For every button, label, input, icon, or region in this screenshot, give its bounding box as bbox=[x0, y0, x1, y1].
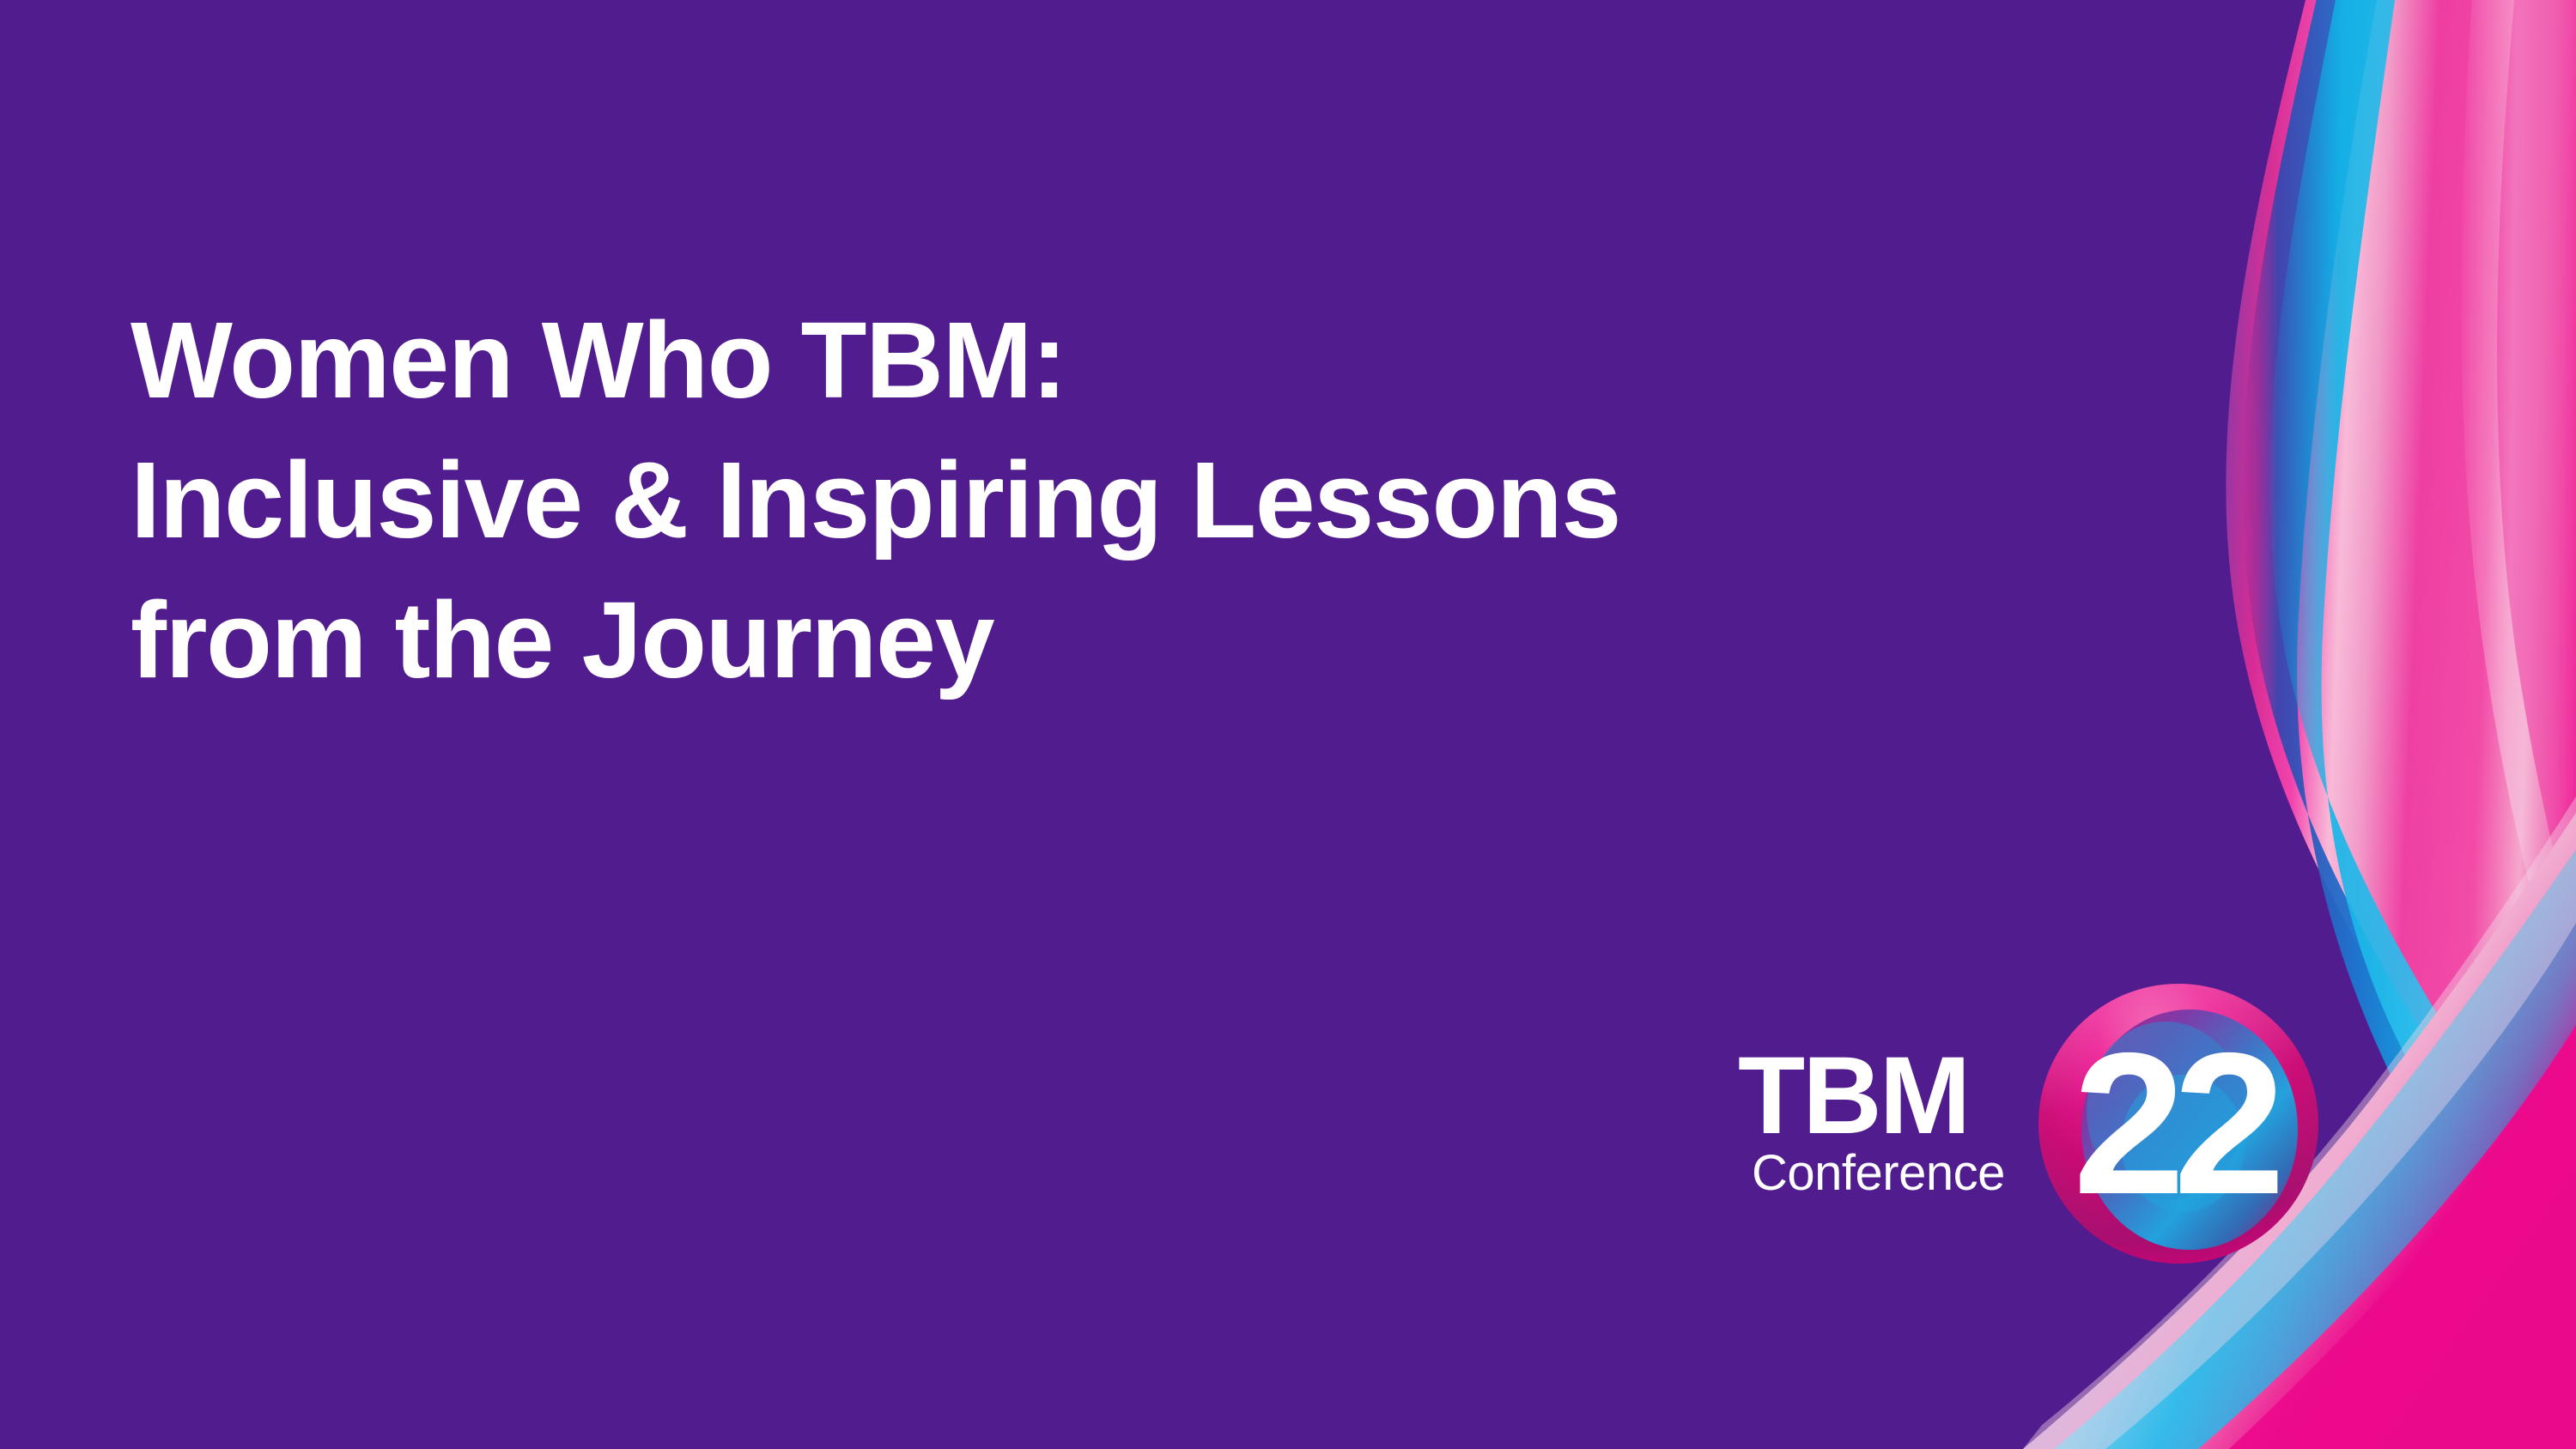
year-badge-label: 22 bbox=[2037, 982, 2320, 1265]
logo-wordmark: TBM Conference bbox=[1738, 1046, 2047, 1200]
presentation-slide: Women Who TBM: Inclusive & Inspiring Les… bbox=[0, 0, 2576, 1449]
slide-title: Women Who TBM: Inclusive & Inspiring Les… bbox=[131, 290, 2020, 710]
logo-subtitle-text: Conference bbox=[1738, 1147, 2047, 1200]
logo-brand-text: TBM bbox=[1738, 1046, 2047, 1147]
title-line-3: from the Journey bbox=[131, 570, 2020, 710]
title-line-2: Inclusive & Inspiring Lessons bbox=[131, 430, 2020, 570]
title-line-1: Women Who TBM: bbox=[131, 290, 2020, 430]
tbm-conference-logo: TBM Conference 22 bbox=[1731, 979, 2332, 1279]
